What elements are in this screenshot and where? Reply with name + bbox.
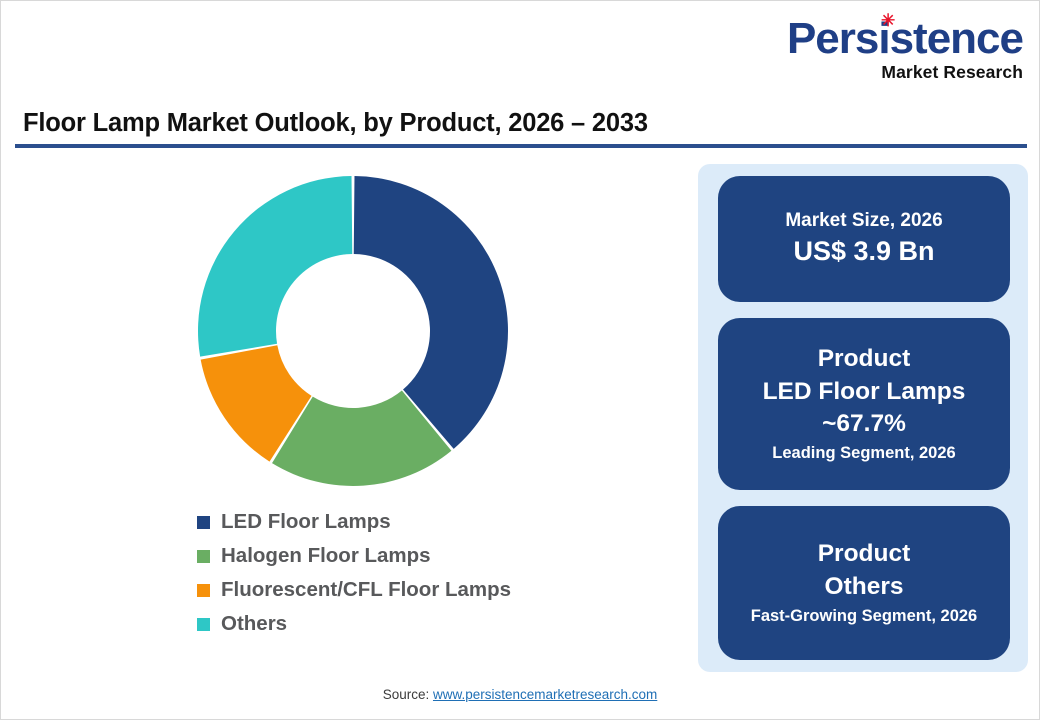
card-fastgrowing-caption: Fast-Growing Segment, 2026 [718, 606, 1010, 627]
legend-item[interactable]: Halogen Floor Lamps [197, 539, 511, 573]
legend-item-label: LED Floor Lamps [221, 510, 391, 534]
card-market-size-value: US$ 3.9 Bn [718, 234, 1010, 269]
logo-brand-label: Persistence [787, 14, 1023, 63]
legend-swatch-icon [197, 516, 210, 529]
card-leading-segment: Product LED Floor Lamps ~67.7% Leading S… [718, 318, 1010, 490]
legend-swatch-icon [197, 550, 210, 563]
legend-swatch-icon [197, 618, 210, 631]
card-fastgrowing-name: Others [718, 571, 1010, 603]
card-market-size-label: Market Size, 2026 [718, 209, 1010, 233]
legend-item-label: Halogen Floor Lamps [221, 544, 431, 568]
source-prefix: Source: [383, 687, 433, 702]
logo-brand-text: Persistence ✳ [787, 17, 1023, 61]
logo-subtitle: Market Research [787, 64, 1023, 82]
legend-item[interactable]: LED Floor Lamps [197, 505, 511, 539]
legend-item[interactable]: Others [197, 607, 511, 641]
legend-item[interactable]: Fluorescent/CFL Floor Lamps [197, 573, 511, 607]
card-leading-name: LED Floor Lamps [718, 376, 1010, 408]
card-leading-share: ~67.7% [718, 408, 1010, 440]
card-market-size: Market Size, 2026 US$ 3.9 Bn [718, 176, 1010, 302]
donut-chart-svg [181, 166, 531, 501]
card-fast-growing-segment: Product Others Fast-Growing Segment, 202… [718, 506, 1010, 660]
legend-swatch-icon [197, 584, 210, 597]
source-line: Source: www.persistencemarketresearch.co… [1, 687, 1039, 702]
legend-item-label: Others [221, 612, 287, 636]
logo-star-icon: ✳ [881, 12, 894, 29]
donut-chart [181, 166, 531, 501]
legend-item-label: Fluorescent/CFL Floor Lamps [221, 578, 511, 602]
company-logo: Persistence ✳ Market Research [787, 17, 1023, 82]
card-leading-caption: Leading Segment, 2026 [718, 443, 1010, 464]
donut-slices [198, 176, 508, 486]
chart-legend: LED Floor LampsHalogen Floor LampsFluore… [197, 505, 511, 641]
card-leading-category: Product [718, 343, 1010, 375]
source-link[interactable]: www.persistencemarketresearch.com [433, 687, 657, 702]
donut-slice[interactable] [198, 176, 352, 357]
highlights-panel: Market Size, 2026 US$ 3.9 Bn Product LED… [698, 164, 1028, 672]
infographic-page: Persistence ✳ Market Research Floor Lamp… [0, 0, 1040, 720]
title-divider [15, 144, 1027, 148]
page-title: Floor Lamp Market Outlook, by Product, 2… [23, 109, 648, 138]
card-fastgrowing-category: Product [718, 538, 1010, 570]
